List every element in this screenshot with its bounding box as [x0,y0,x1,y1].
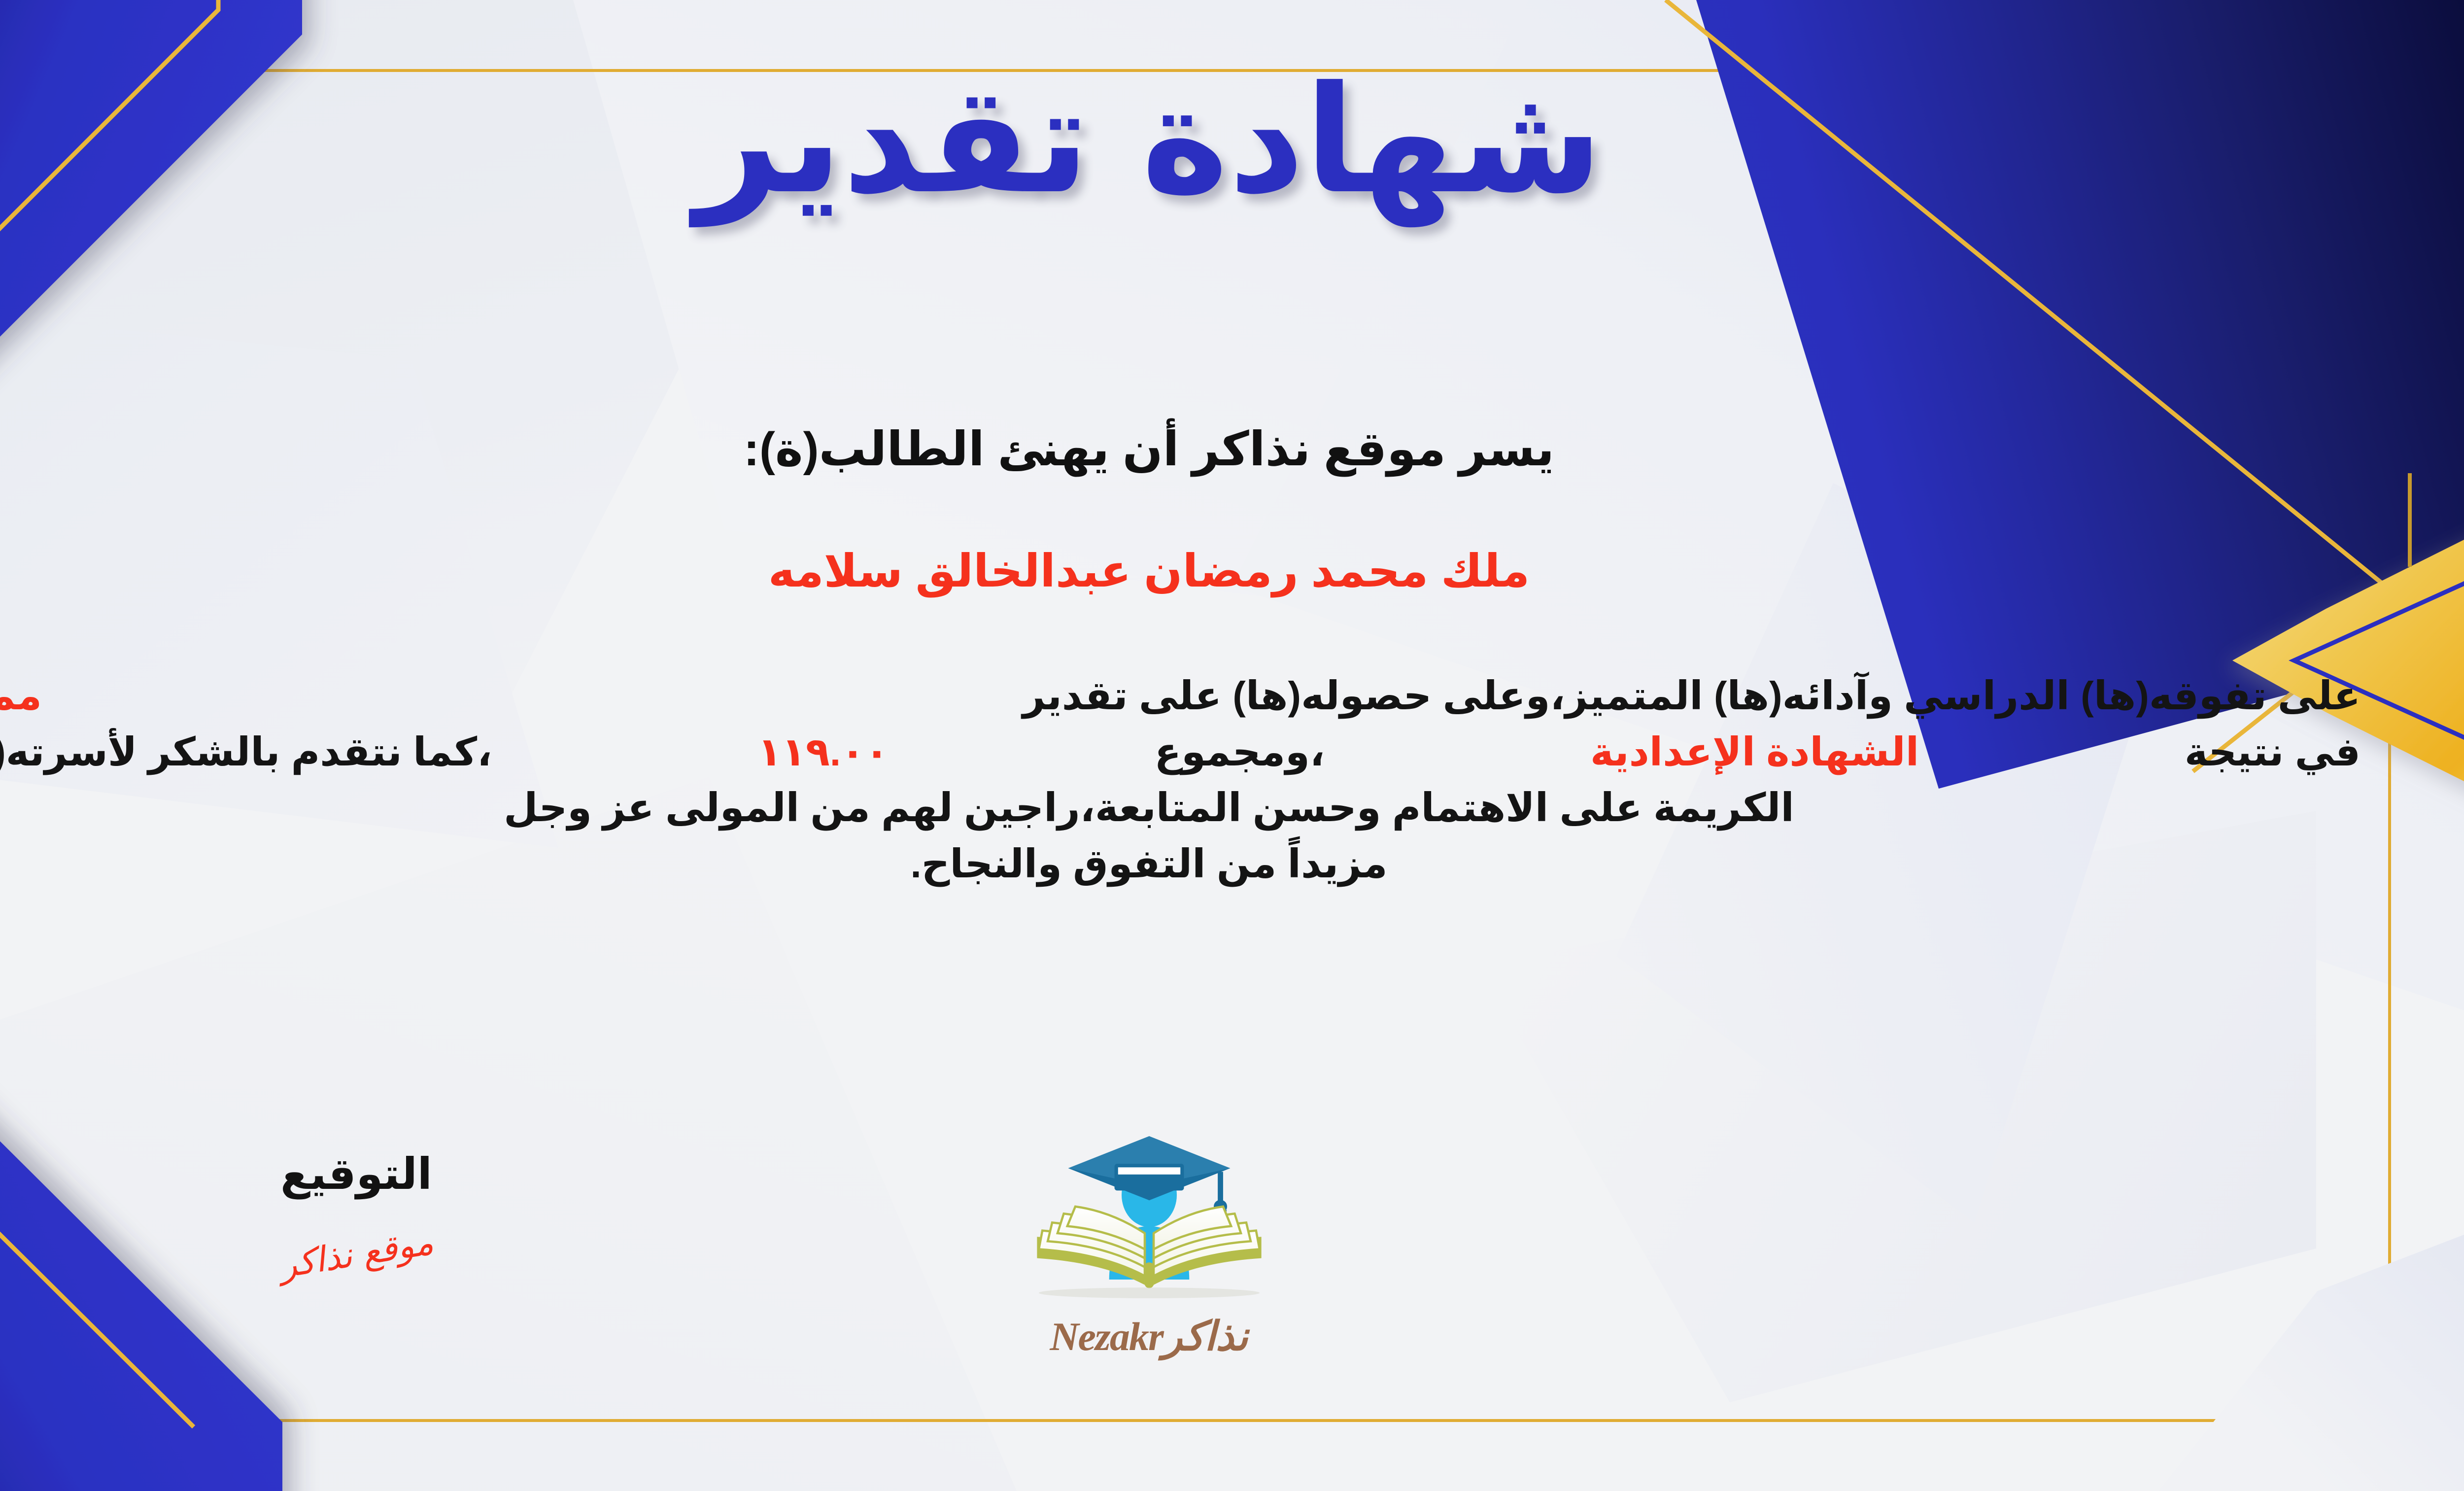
greeting-text: يسر موقع نذاكر أن يهنئ الطالب(ة): [0,421,2464,477]
certificate-page: شهادة تقدير يسر موقع نذاكر أن يهنئ الطال… [0,0,2464,1491]
body-line-1: على تفوقه(ها) الدراسي وآدائه(ها) المتميز… [0,668,2361,724]
graduate-book-logo-icon [1011,1119,1287,1311]
body-line-2: في نتيجة الشهادة الإعدادية ،ومجموع ١١٩.٠… [0,724,2361,780]
body-line-4: مزيداً من التفوق والنجاح. [0,836,2361,892]
grade-value: ممتاز [0,668,42,724]
body-line-2-middle: ،ومجموع [1155,724,1325,780]
student-name: ملك محمد رمضان عبدالخالق سلامه [0,545,2464,597]
signature-mark: موقع نذاكر [276,1222,436,1286]
certificate-body: على تفوقه(ها) الدراسي وآدائه(ها) المتميز… [0,668,2361,892]
body-line-1-main: على تفوقه(ها) الدراسي وآدائه(ها) المتميز… [1023,668,2361,724]
signature-block: التوقيع موقع نذاكر [169,1148,544,1274]
signature-label: التوقيع [169,1148,544,1199]
logo-wordmark: Nezakrنذاكر [996,1313,1302,1360]
site-logo: Nezakrنذاكر [996,1119,1302,1360]
certificate-title: شهادة تقدير [0,59,2464,222]
body-line-2-prefix: في نتيجة [2185,724,2361,780]
body-line-3: الكريمة على الاهتمام وحسن المتابعة،راجين… [0,780,2361,836]
total-score: ١١٩.٠٠ [757,724,889,780]
certificate-content: شهادة تقدير يسر موقع نذاكر أن يهنئ الطال… [0,0,2464,1491]
exam-name: الشهادة الإعدادية [1590,724,1919,780]
body-line-2-suffix: ،كما نتقدم بالشكر لأسرته(ها) [0,724,492,780]
